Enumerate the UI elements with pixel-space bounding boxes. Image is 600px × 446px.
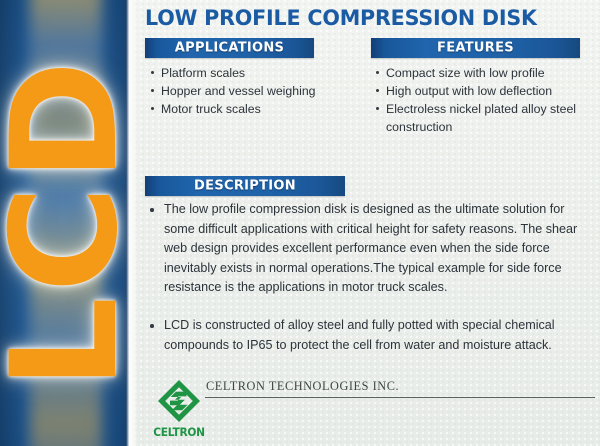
celtron-logo: CELTRON [150,379,208,441]
applications-list: Platform scales Hopper and vessel weighi… [150,64,340,118]
content-area: LOW PROFILE COMPRESSION DISK APPLICATION… [138,0,600,446]
footer-divider [205,397,595,398]
list-item: Motor truck scales [150,100,340,118]
celtron-diamond-s-icon-svg [157,379,201,423]
section-header-applications: APPLICATIONS [145,38,314,58]
features-list: Compact size with low profile High outpu… [375,64,590,136]
footer-company-name: CELTRON TECHNOLOGIES INC. [206,379,399,394]
section-header-features-label: FEATURES [371,41,580,56]
datasheet-page: LCD LOW PROFILE COMPRESSION DISK APPLICA… [0,0,600,446]
spine-text-container: LCD [0,0,129,446]
list-item: The low profile compression disk is desi… [148,200,598,298]
paper-left-edge [128,0,138,446]
spine-right-edge [126,0,129,446]
list-item: Platform scales [150,64,340,82]
list-item: LCD is constructed of alloy steel and fu… [148,316,598,355]
list-item: High output with low deflection [375,82,590,100]
product-code-label: LCD [0,56,129,389]
page-title: LOW PROFILE COMPRESSION DISK [145,6,537,31]
section-header-description-label: DESCRIPTION [145,179,345,194]
section-header-description: DESCRIPTION [145,176,345,196]
celtron-diamond-s-icon [157,379,201,423]
list-item: Hopper and vessel weighing [150,82,340,100]
list-item: Compact size with low profile [375,64,590,82]
section-header-features: FEATURES [371,38,580,58]
section-header-applications-label: APPLICATIONS [145,41,314,56]
celtron-wordmark: CELTRON [151,426,206,439]
list-item: Electroless nickel plated alloy steel co… [375,100,590,136]
product-spine-panel: LCD [0,0,129,446]
description-list: The low profile compression disk is desi… [148,200,598,373]
